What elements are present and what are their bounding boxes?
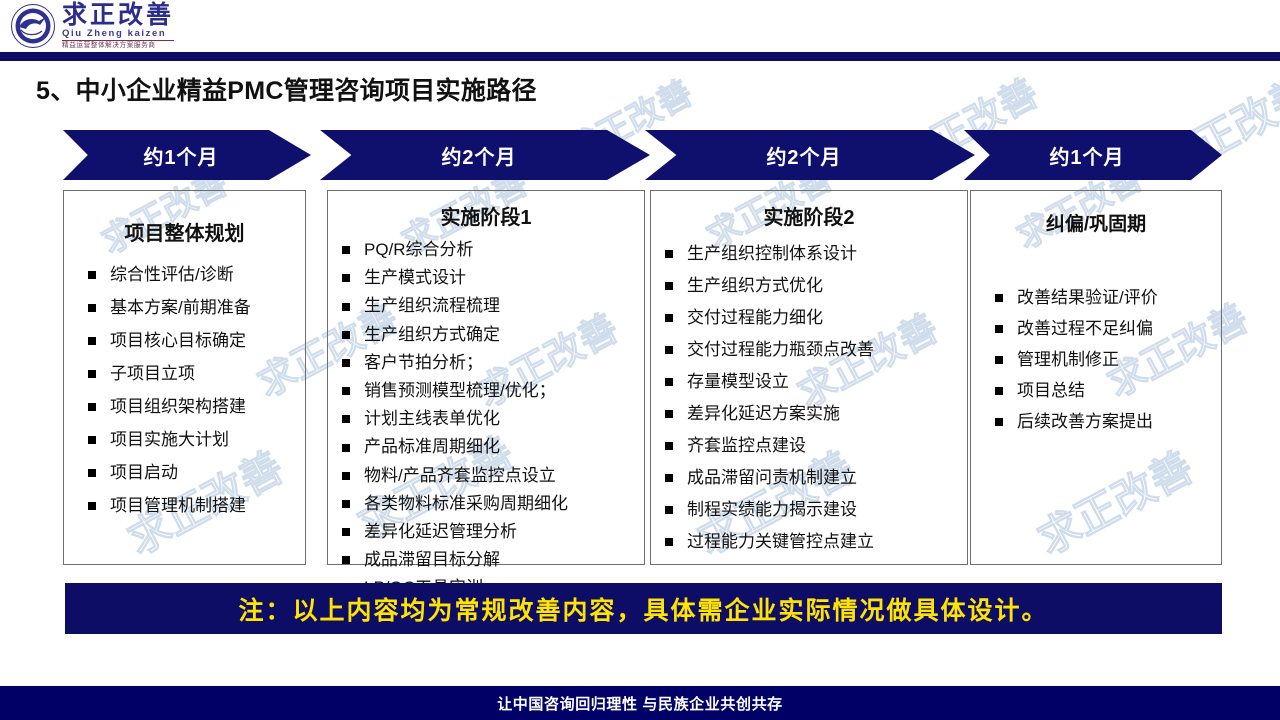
square-bullet-icon (88, 271, 96, 279)
list-item: 改善结果验证/评价 (995, 282, 1221, 313)
square-bullet-icon (88, 403, 96, 411)
list-item-label: 存量模型设立 (665, 366, 789, 398)
square-bullet-icon (342, 444, 350, 452)
square-bullet-icon (342, 472, 350, 480)
list-item-label: 子项目立项 (88, 357, 195, 390)
list-item: 项目实施大计划 (88, 423, 305, 456)
list-item-label: 生产组织方式优化 (665, 270, 823, 302)
list-item: 客户节拍分析； (342, 349, 644, 377)
list-item-label: PQ/R综合分析 (342, 236, 474, 264)
logo-chinese-name: 求正改善 (62, 3, 174, 29)
square-bullet-icon (88, 502, 96, 510)
slide-title: 5、中小企业精益PMC管理咨询项目实施路径 (36, 71, 537, 107)
square-bullet-icon (342, 415, 350, 423)
phase-chevron-3[interactable]: 约2个月 (645, 130, 975, 180)
phase-box-2: 实施阶段1 PQ/R综合分析生产模式设计生产组织流程梳理生产组织方式确定客户节拍… (327, 190, 645, 565)
square-bullet-icon (995, 418, 1003, 426)
phase-chevron-2[interactable]: 约2个月 (320, 130, 650, 180)
list-item-label: 项目管理机制搭建 (88, 489, 246, 522)
list-item: 产品标准周期细化 (342, 433, 644, 461)
square-bullet-icon (665, 378, 673, 386)
phase-timeline: 约1个月 约2个月 约2个月 约1个月 (0, 130, 1280, 180)
list-item-label: 改善结果验证/评价 (995, 282, 1158, 313)
list-item: 改善过程不足纠偏 (995, 313, 1221, 344)
list-item: 各类物料标准采购周期细化 (342, 490, 644, 518)
list-item-label: 改善过程不足纠偏 (995, 313, 1153, 344)
phase-duration-label-4: 约1个月 (1049, 141, 1124, 170)
square-bullet-icon (342, 274, 350, 282)
phase-box-3: 实施阶段2 生产组织控制体系设计生产组织方式优化交付过程能力细化交付过程能力瓶颈… (650, 190, 968, 565)
list-item: 项目组织架构搭建 (88, 390, 305, 423)
phase-duration-label-2: 约2个月 (441, 141, 516, 170)
note-banner: 注：以上内容均为常规改善内容，具体需企业实际情况做具体设计。 (65, 583, 1222, 634)
logo-tagline: 精益运营整体解决方案服务商 (62, 40, 174, 49)
list-item: 生产组织流程梳理 (342, 292, 644, 320)
list-item-label: 管理机制修正 (995, 344, 1119, 375)
list-item: 生产组织控制体系设计 (665, 238, 967, 270)
square-bullet-icon (665, 410, 673, 418)
list-item-label: 综合性评估/诊断 (88, 258, 234, 291)
list-item: 基本方案/前期准备 (88, 291, 305, 324)
phase-chevron-1[interactable]: 约1个月 (63, 130, 311, 180)
square-bullet-icon (342, 528, 350, 536)
company-logo: 求正改善 Qiu Zheng kaizen 精益运营整体解决方案服务商 (10, 2, 200, 50)
list-item-label: 生产模式设计 (342, 264, 466, 292)
square-bullet-icon (342, 246, 350, 254)
header-bar: 求正改善 Qiu Zheng kaizen 精益运营整体解决方案服务商 (0, 0, 1280, 52)
list-item: PQ/R综合分析 (342, 236, 644, 264)
square-bullet-icon (342, 387, 350, 395)
list-item-label: 齐套监控点建设 (665, 430, 806, 462)
phase-box-4: 纠偏/巩固期 改善结果验证/评价改善过程不足纠偏管理机制修正项目总结后续改善方案… (970, 190, 1222, 565)
list-item-label: 产品标准周期细化 (342, 433, 500, 461)
list-item: 差异化延迟管理分析 (342, 518, 644, 546)
footer-slogan: 让中国咨询回归理性 与民族企业共创共存 (497, 693, 783, 714)
list-item: 制程实绩能力揭示建设 (665, 494, 967, 526)
list-item-label: 交付过程能力细化 (665, 302, 823, 334)
phase-box-title-4: 纠偏/巩固期 (971, 209, 1221, 236)
square-bullet-icon (995, 356, 1003, 364)
logo-english-name: Qiu Zheng kaizen (62, 29, 174, 39)
phase-box-list-4: 改善结果验证/评价改善过程不足纠偏管理机制修正项目总结后续改善方案提出 (971, 282, 1221, 437)
phase-content-boxes: 项目整体规划 综合性评估/诊断基本方案/前期准备项目核心目标确定子项目立项项目组… (0, 190, 1280, 565)
list-item: 综合性评估/诊断 (88, 258, 305, 291)
list-item-label: 客户节拍分析； (342, 349, 483, 377)
square-bullet-icon (665, 442, 673, 450)
list-item: 齐套监控点建设 (665, 430, 967, 462)
list-item: 项目管理机制搭建 (88, 489, 305, 522)
list-item-label: 各类物料标准采购周期细化 (342, 490, 568, 518)
square-bullet-icon (665, 282, 673, 290)
list-item-label: 生产组织流程梳理 (342, 292, 500, 320)
list-item: 交付过程能力瓶颈点改善 (665, 334, 967, 366)
note-text: 注：以上内容均为常规改善内容，具体需企业实际情况做具体设计。 (238, 591, 1048, 627)
list-item-label: 成品滞留目标分解 (342, 546, 500, 574)
list-item: 子项目立项 (88, 357, 305, 390)
square-bullet-icon (88, 469, 96, 477)
list-item: 项目总结 (995, 375, 1221, 406)
list-item: 项目启动 (88, 456, 305, 489)
square-bullet-icon (342, 500, 350, 508)
list-item-label: 项目组织架构搭建 (88, 390, 246, 423)
list-item-label: 销售预测模型梳理/优化； (342, 377, 556, 405)
list-item: 存量模型设立 (665, 366, 967, 398)
list-item-label: 物料/产品齐套监控点设立 (342, 462, 556, 490)
phase-duration-label-3: 约2个月 (766, 141, 841, 170)
list-item-label: 项目总结 (995, 375, 1085, 406)
list-item-label: 生产组织控制体系设计 (665, 238, 857, 270)
square-bullet-icon (665, 314, 673, 322)
square-bullet-icon (665, 250, 673, 258)
list-item: 项目核心目标确定 (88, 324, 305, 357)
logo-wordmark: 求正改善 Qiu Zheng kaizen 精益运营整体解决方案服务商 (62, 3, 174, 50)
list-item-label: 差异化延迟方案实施 (665, 398, 840, 430)
phase-chevron-4[interactable]: 约1个月 (964, 130, 1222, 180)
phase-box-title-1: 项目整体规划 (64, 217, 305, 246)
phase-box-1: 项目整体规划 综合性评估/诊断基本方案/前期准备项目核心目标确定子项目立项项目组… (63, 190, 306, 565)
circular-swoosh-logo-icon (10, 3, 56, 49)
list-item-label: 项目实施大计划 (88, 423, 229, 456)
list-item-label: 生产组织方式确定 (342, 321, 500, 349)
phase-duration-label-1: 约1个月 (143, 141, 218, 170)
list-item-label: 制程实绩能力揭示建设 (665, 494, 857, 526)
list-item-label: 计划主线表单优化 (342, 405, 500, 433)
phase-box-title-2: 实施阶段1 (328, 201, 644, 230)
phase-box-list-2: PQ/R综合分析生产模式设计生产组织流程梳理生产组织方式确定客户节拍分析；销售预… (328, 236, 644, 603)
header-divider-rule (0, 52, 1280, 61)
list-item: 差异化延迟方案实施 (665, 398, 967, 430)
square-bullet-icon (995, 294, 1003, 302)
list-item-label: 交付过程能力瓶颈点改善 (665, 334, 874, 366)
square-bullet-icon (995, 325, 1003, 333)
square-bullet-icon (342, 359, 350, 367)
list-item-label: 项目核心目标确定 (88, 324, 246, 357)
list-item: 生产模式设计 (342, 264, 644, 292)
phase-box-list-1: 综合性评估/诊断基本方案/前期准备项目核心目标确定子项目立项项目组织架构搭建项目… (64, 258, 305, 522)
list-item: 成品滞留目标分解 (342, 546, 644, 574)
list-item: 后续改善方案提出 (995, 406, 1221, 437)
square-bullet-icon (342, 556, 350, 564)
list-item-label: 差异化延迟管理分析 (342, 518, 517, 546)
list-item: 管理机制修正 (995, 344, 1221, 375)
list-item: 销售预测模型梳理/优化； (342, 377, 644, 405)
square-bullet-icon (88, 436, 96, 444)
square-bullet-icon (665, 538, 673, 546)
square-bullet-icon (665, 346, 673, 354)
square-bullet-icon (665, 506, 673, 514)
phase-box-title-3: 实施阶段2 (651, 201, 967, 230)
list-item: 生产组织方式确定 (342, 321, 644, 349)
square-bullet-icon (88, 304, 96, 312)
list-item: 成品滞留问责机制建立 (665, 462, 967, 494)
list-item-label: 项目启动 (88, 456, 178, 489)
list-item: 计划主线表单优化 (342, 405, 644, 433)
list-item-label: 过程能力关键管控点建立 (665, 526, 874, 558)
square-bullet-icon (342, 303, 350, 311)
list-item-label: 基本方案/前期准备 (88, 291, 251, 324)
list-item-label: 后续改善方案提出 (995, 406, 1153, 437)
phase-box-list-3: 生产组织控制体系设计生产组织方式优化交付过程能力细化交付过程能力瓶颈点改善存量模… (651, 238, 967, 558)
square-bullet-icon (88, 337, 96, 345)
list-item-label: 成品滞留问责机制建立 (665, 462, 857, 494)
square-bullet-icon (342, 331, 350, 339)
footer-bar: 让中国咨询回归理性 与民族企业共创共存 (0, 686, 1280, 720)
list-item: 过程能力关键管控点建立 (665, 526, 967, 558)
list-item: 交付过程能力细化 (665, 302, 967, 334)
list-item: 生产组织方式优化 (665, 270, 967, 302)
square-bullet-icon (995, 387, 1003, 395)
square-bullet-icon (88, 370, 96, 378)
square-bullet-icon (665, 474, 673, 482)
list-item: 物料/产品齐套监控点设立 (342, 462, 644, 490)
